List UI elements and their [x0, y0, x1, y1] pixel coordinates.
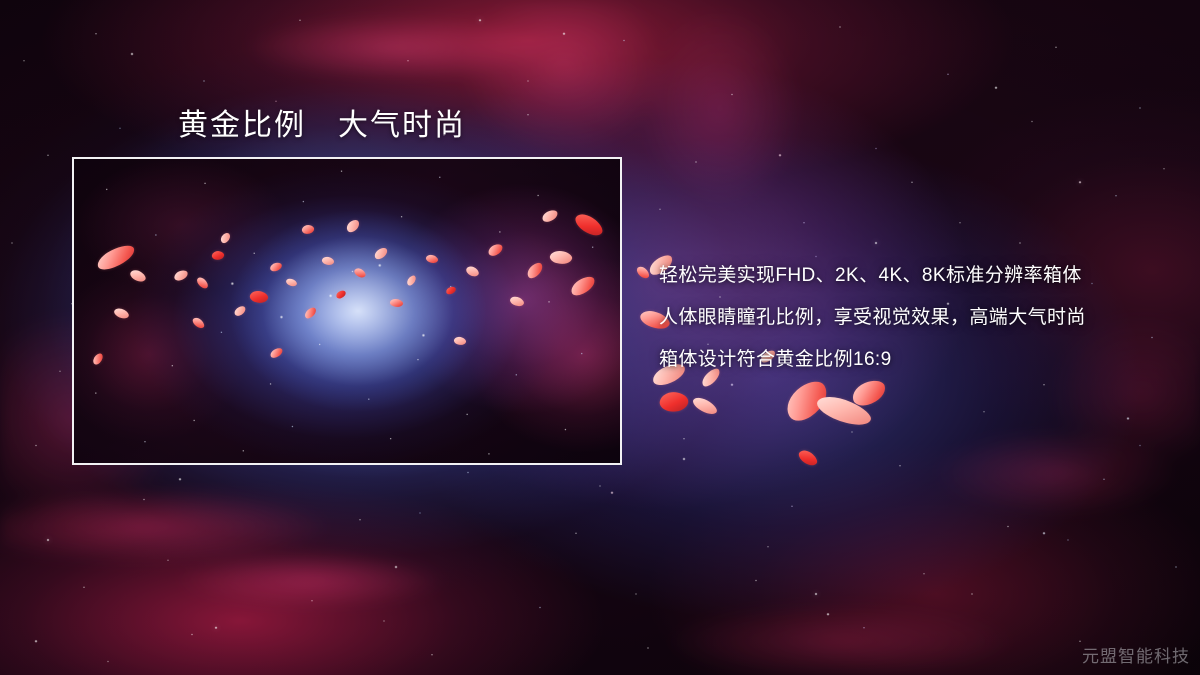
- body-line-2: 人体眼睛瞳孔比例，享受视觉效果，高端大气时尚: [659, 297, 1169, 339]
- petal-icon: [658, 389, 690, 414]
- framed-image: [72, 157, 622, 465]
- petal-icon: [797, 447, 820, 469]
- watermark: 元盟智能科技: [1082, 642, 1190, 667]
- presentation-slide: 黄金比例 大气时尚: [0, 0, 1200, 675]
- slide-title: 黄金比例 大气时尚: [178, 100, 466, 144]
- body-line-1: 轻松完美实现FHD、2K、4K、8K标准分辨率箱体: [659, 255, 1169, 297]
- body-line-3: 箱体设计符合黄金比例16:9: [659, 339, 1169, 381]
- petal-icon: [635, 264, 651, 281]
- framed-image-content: [74, 159, 620, 463]
- framed-starfield-icon: [74, 159, 620, 463]
- petal-icon: [691, 394, 719, 418]
- body-text-block: 轻松完美实现FHD、2K、4K、8K标准分辨率箱体 人体眼睛瞳孔比例，享受视觉效…: [659, 255, 1169, 381]
- petal-icon: [850, 378, 889, 409]
